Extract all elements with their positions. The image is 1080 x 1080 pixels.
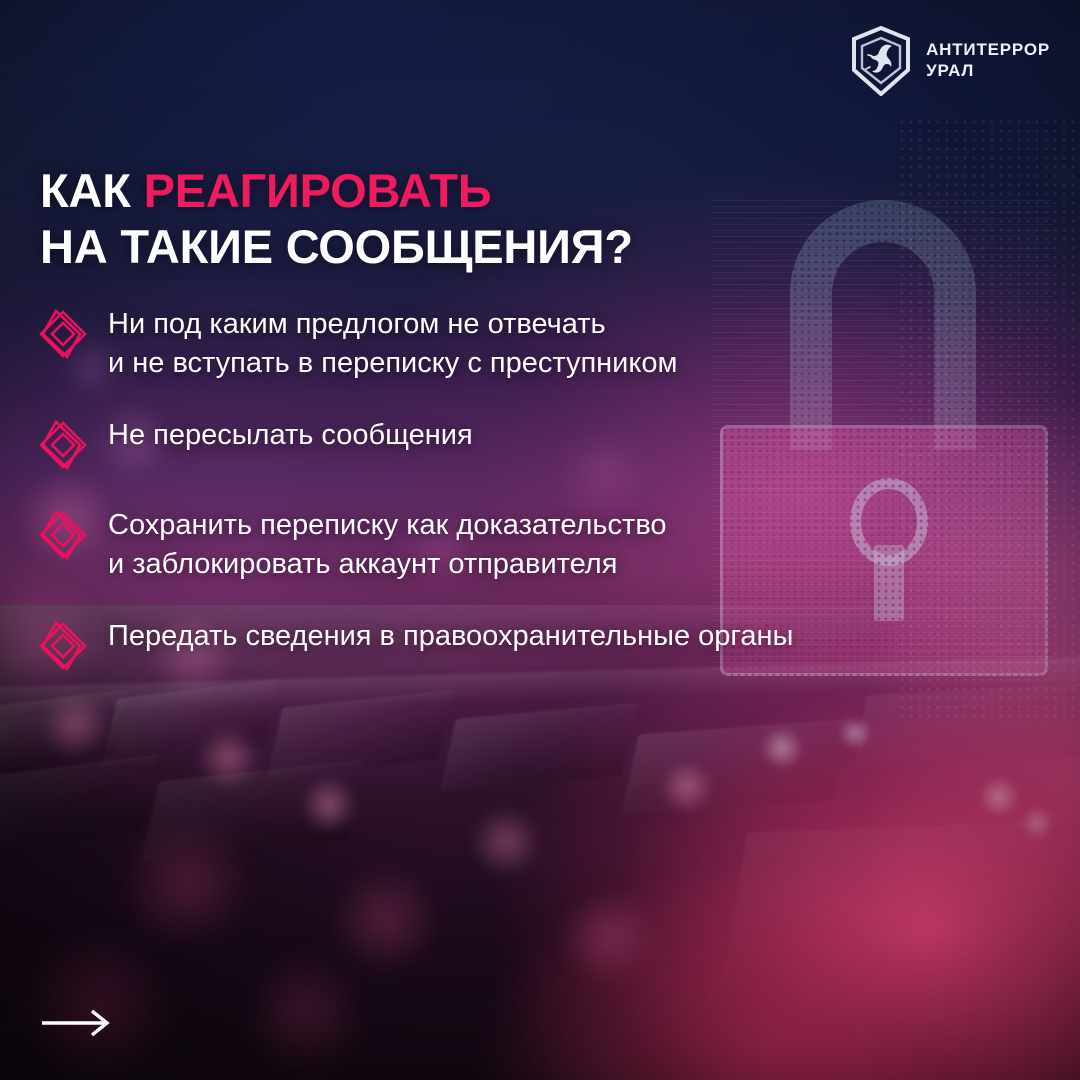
- list-item-label: Передать сведения в правоохранительные о…: [108, 617, 793, 656]
- page-title: КАК РЕАГИРОВАТЬ НА ТАКИЕ СООБЩЕНИЯ?: [40, 163, 633, 274]
- list-item: Передать сведения в правоохранительные о…: [36, 617, 1036, 673]
- brand-name-line2: УРАЛ: [926, 61, 1050, 82]
- brand-name-line1: АНТИТЕРРОР: [926, 40, 1050, 61]
- list-item: Не пересылать сообщения: [36, 416, 1036, 472]
- double-diamond-icon: [36, 418, 90, 472]
- double-diamond-icon: [36, 307, 90, 361]
- advice-list: Ни под каким предлогом не отвечать и не …: [36, 305, 1036, 673]
- list-item: Ни под каким предлогом не отвечать и не …: [36, 305, 1036, 382]
- list-item-label: Не пересылать сообщения: [108, 416, 473, 455]
- list-item-label: Сохранить переписку как доказательство и…: [108, 506, 667, 583]
- page-title-line2: НА ТАКИЕ СООБЩЕНИЯ?: [40, 219, 633, 274]
- poster-canvas: АНТИТЕРРОР УРАЛ КАК РЕАГИРОВАТЬ НА ТАКИЕ…: [0, 0, 1080, 1080]
- brand-name: АНТИТЕРРОР УРАЛ: [926, 40, 1050, 81]
- page-title-plain: КАК: [40, 164, 144, 217]
- arrow-right-icon[interactable]: [40, 1008, 114, 1038]
- shield-lizard-icon: [850, 26, 912, 96]
- page-title-accent: РЕАГИРОВАТЬ: [144, 164, 492, 217]
- double-diamond-icon: [36, 619, 90, 673]
- brand-logo: АНТИТЕРРОР УРАЛ: [850, 26, 1050, 96]
- page-title-line1: КАК РЕАГИРОВАТЬ: [40, 163, 633, 218]
- list-item: Сохранить переписку как доказательство и…: [36, 506, 1036, 583]
- double-diamond-icon: [36, 508, 90, 562]
- list-item-label: Ни под каким предлогом не отвечать и не …: [108, 305, 677, 382]
